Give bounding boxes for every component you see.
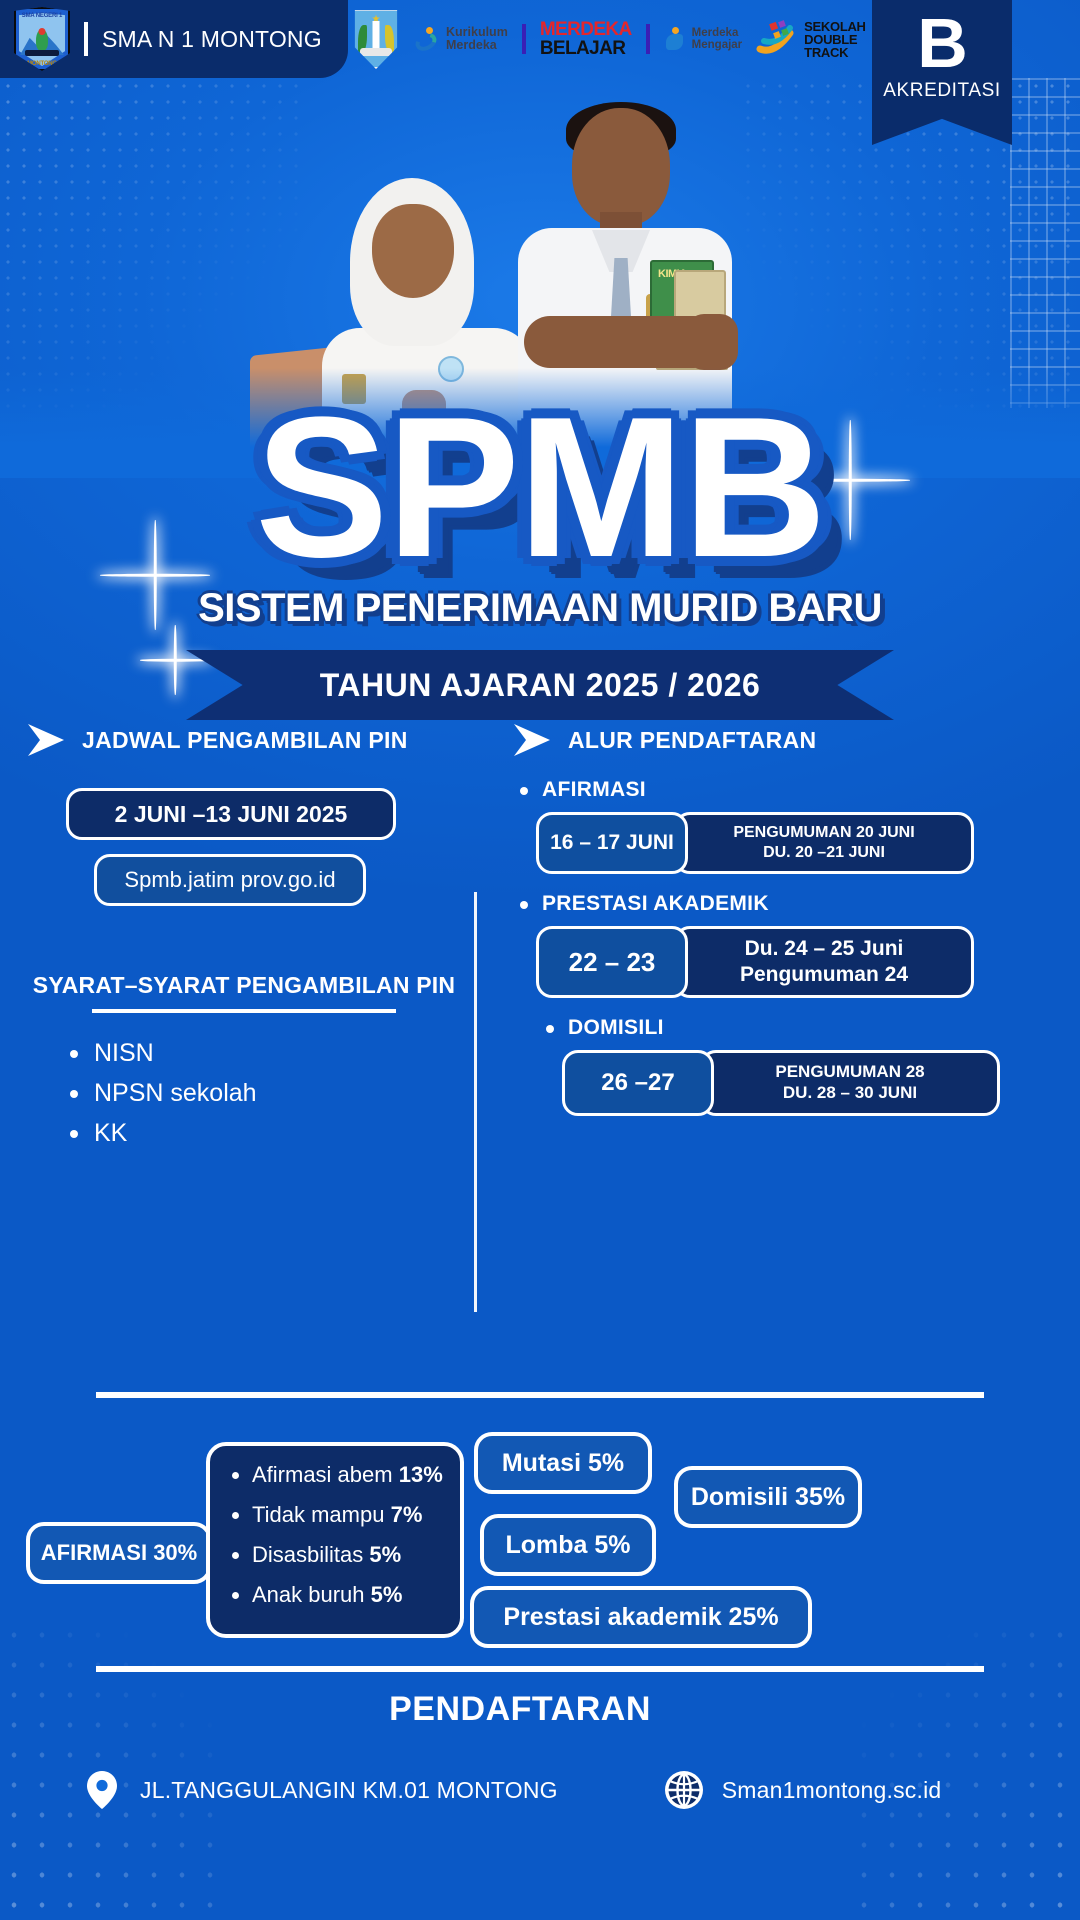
flow-date: 16 – 17 JUNI <box>536 812 688 874</box>
quota-domisili: Domisili 35% <box>674 1466 862 1528</box>
subtitle-text: SISTEM PENERIMAAN MURID BARU <box>198 586 882 630</box>
quota-top-rule <box>96 1392 984 1398</box>
academic-year-banner: TAHUN AJARAN 2025 / 2026 <box>186 650 894 720</box>
flow-note-line2: Pengumuman 24 <box>740 962 908 988</box>
syarat-heading: SYARAT–SYARAT PENGAMBILAN PIN <box>24 972 464 999</box>
list-item: Anak buruh 5% <box>228 1582 460 1608</box>
logo-separator-bar <box>646 24 650 54</box>
logo-separator-bar <box>522 24 526 54</box>
arrow-right-icon <box>510 720 554 760</box>
crest-top-text: SMA NEGERI 1 <box>16 13 68 19</box>
merdeka-belajar-line2: BELAJAR <box>540 39 632 58</box>
school-crest-logo: SMA NEGERI 1 MONTONG <box>14 7 70 71</box>
sparkle-icon <box>140 625 210 695</box>
website-contact[interactable]: Sman1montong.sc.id <box>662 1768 942 1812</box>
breakdown-name: Anak buruh <box>252 1582 365 1607</box>
spmb-website-pill[interactable]: Spmb.jatim prov.go.id <box>94 854 366 906</box>
quota-bottom-rule <box>96 1666 984 1672</box>
poster-subtitle: SISTEM PENERIMAAN MURID BARU <box>0 586 1080 631</box>
alur-section-header: ALUR PENDAFTARAN <box>510 720 1058 760</box>
arrow-right-icon <box>24 720 68 760</box>
breakdown-value: 7% <box>391 1502 423 1527</box>
merdeka-belajar-logo: MERDEKA BELAJAR <box>540 20 632 58</box>
poster-footer: PENDAFTARAN JL.TANGGULANGIN KM.01 MONTON… <box>0 1690 1080 1920</box>
flow-note: PENGUMUMAN 20 JUNI DU. 20 –21 JUNI <box>674 812 974 874</box>
flow-item-domisili: DOMISILI 26 –27 PENGUMUMAN 28 DU. 28 – 3… <box>536 1016 1058 1116</box>
quota-section: AFIRMASI 30% Afirmasi abem 13% Tidak mam… <box>0 1414 1080 1664</box>
contact-row: JL.TANGGULANGIN KM.01 MONTONG Sman1monto <box>0 1768 1080 1812</box>
kurikulum-merdeka-logo: Kurikulum Merdeka <box>414 26 508 52</box>
alur-heading: ALUR PENDAFTARAN <box>568 727 816 754</box>
pendaftaran-heading: PENDAFTARAN <box>389 1690 651 1728</box>
crest-bottom-text: MONTONG <box>16 61 68 67</box>
flow-note-line1: Du. 24 – 25 Juni <box>740 936 908 962</box>
accreditation-label: AKREDITASI <box>883 80 1001 102</box>
flow-note-line2: DU. 20 –21 JUNI <box>733 843 914 863</box>
partner-logos-group: ★ Kurikulum Merdeka MERDEKA <box>352 0 866 78</box>
flow-note-line1: PENGUMUMAN 28 <box>775 1062 924 1083</box>
flow-note: Du. 24 – 25 Juni Pengumuman 24 <box>674 926 974 998</box>
academic-year-text: TAHUN AJARAN 2025 / 2026 <box>320 667 761 704</box>
quota-afirmasi-breakdown: Afirmasi abem 13% Tidak mampu 7% Disasbi… <box>206 1442 464 1638</box>
sdt-line2: DOUBLE <box>804 33 865 46</box>
flow-note-line2: DU. 28 – 30 JUNI <box>775 1083 924 1104</box>
syarat-list: NISN NPSN sekolah KK <box>66 1039 464 1148</box>
merdeka-mengajar-line1: Merdeka <box>692 27 743 39</box>
flow-note: PENGUMUMAN 28 DU. 28 – 30 JUNI <box>700 1050 1000 1116</box>
column-divider <box>474 892 477 1312</box>
list-item: Tidak mampu 7% <box>228 1502 460 1528</box>
quota-prestasi-akademik: Prestasi akademik 25% <box>470 1586 812 1648</box>
breakdown-value: 5% <box>371 1582 403 1607</box>
quota-lomba: Lomba 5% <box>480 1514 656 1576</box>
flow-row: 22 – 23 Du. 24 – 25 Juni Pengumuman 24 <box>536 926 1058 998</box>
breakdown-value: 5% <box>369 1542 401 1567</box>
school-identity-bar: SMA NEGERI 1 MONTONG SMA N 1 MONTONG <box>0 0 348 78</box>
double-track-swoosh-icon <box>756 19 800 59</box>
header-divider <box>84 22 88 56</box>
kurikulum-merdeka-line2: Merdeka <box>446 39 508 52</box>
merdeka-mengajar-line2: Mengajar <box>692 39 743 51</box>
jatim-province-emblem-icon: ★ <box>352 9 400 69</box>
breakdown-name: Afirmasi abem <box>252 1462 393 1487</box>
syarat-underline <box>92 1009 396 1013</box>
merdeka-mengajar-icon <box>664 27 686 51</box>
website-text: Sman1montong.sc.id <box>722 1777 942 1804</box>
globe-icon <box>662 1768 706 1812</box>
flow-item-prestasi-akademik: PRESTASI AKADEMIK 22 – 23 Du. 24 – 25 Ju… <box>510 892 1058 998</box>
flow-label: AFIRMASI <box>510 778 1058 802</box>
location-pin-icon <box>80 1768 124 1812</box>
left-column: JADWAL PENGAMBILAN PIN 2 JUNI –13 JUNI 2… <box>24 720 464 1159</box>
list-item: Afirmasi abem 13% <box>228 1462 460 1488</box>
quota-mutasi: Mutasi 5% <box>474 1432 652 1494</box>
list-item: Disasbilitas 5% <box>228 1542 460 1568</box>
jadwal-section-header: JADWAL PENGAMBILAN PIN <box>24 720 464 760</box>
list-item: KK <box>66 1119 464 1148</box>
spmb-poster: KIMIA SMA NEGERI 1 MONTONG <box>0 0 1080 1920</box>
list-item: NISN <box>66 1039 464 1068</box>
page-title: SPMB <box>255 396 825 580</box>
right-column: ALUR PENDAFTARAN AFIRMASI 16 – 17 JUNI P… <box>510 720 1058 1116</box>
list-item: NPSN sekolah <box>66 1079 464 1108</box>
quota-afirmasi-total: AFIRMASI 30% <box>26 1522 212 1584</box>
sdt-line3: TRACK <box>804 46 865 59</box>
flow-label: PRESTASI AKADEMIK <box>510 892 1058 916</box>
address-text: JL.TANGGULANGIN KM.01 MONTONG <box>140 1777 558 1804</box>
breakdown-name: Tidak mampu <box>252 1502 384 1527</box>
jadwal-heading: JADWAL PENGAMBILAN PIN <box>82 727 408 754</box>
pendaftaran-heading-wrap: PENDAFTARAN <box>0 1690 1080 1729</box>
flow-note-line1: PENGUMUMAN 20 JUNI <box>733 823 914 843</box>
accreditation-grade: B <box>917 8 967 78</box>
sdt-line1: SEKOLAH <box>804 20 865 33</box>
school-name-label: SMA N 1 MONTONG <box>102 26 322 53</box>
flow-date: 26 –27 <box>562 1050 714 1116</box>
merdeka-belajar-line1: MERDEKA <box>540 20 632 39</box>
breakdown-name: Disasbilitas <box>252 1542 363 1567</box>
pin-schedule-date: 2 JUNI –13 JUNI 2025 <box>66 788 396 840</box>
address-contact: JL.TANGGULANGIN KM.01 MONTONG <box>80 1768 558 1812</box>
merdeka-mengajar-logo: Merdeka Mengajar <box>664 27 743 51</box>
flow-date: 22 – 23 <box>536 926 688 998</box>
flow-row: 26 –27 PENGUMUMAN 28 DU. 28 – 30 JUNI <box>562 1050 1058 1116</box>
poster-title-block: SPMB <box>0 396 1080 580</box>
flow-item-afirmasi: AFIRMASI 16 – 17 JUNI PENGUMUMAN 20 JUNI… <box>510 778 1058 874</box>
flow-label: DOMISILI <box>536 1016 1058 1040</box>
breakdown-value: 13% <box>399 1462 443 1487</box>
flow-row: 16 – 17 JUNI PENGUMUMAN 20 JUNI DU. 20 –… <box>536 812 1058 874</box>
sekolah-double-track-logo: SEKOLAH DOUBLE TRACK <box>756 19 865 59</box>
kurikulum-merdeka-icon <box>414 26 440 52</box>
